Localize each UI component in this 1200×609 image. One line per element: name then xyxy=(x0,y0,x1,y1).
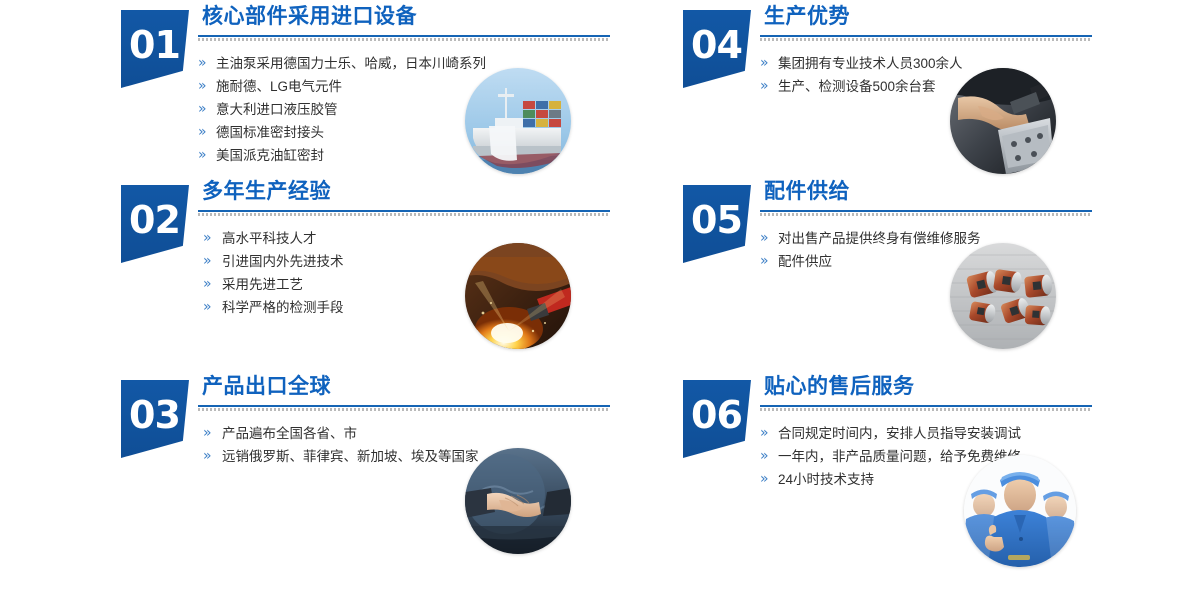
title-divider xyxy=(198,405,610,411)
list-item-label: 集团拥有专业技术人员300余人 xyxy=(778,56,963,71)
list-item-label: 美国派克油缸密封 xyxy=(216,148,324,163)
title-divider xyxy=(198,35,610,41)
list-item-label: 对出售产品提供终身有偿维修服务 xyxy=(778,231,981,246)
title-divider xyxy=(198,210,610,216)
copper-bushings-photo xyxy=(950,243,1056,349)
feature-title-06: 贴心的售后服务 xyxy=(764,370,1092,404)
divider-solid-line xyxy=(760,210,1092,212)
double-chevron-icon: » xyxy=(760,422,769,445)
double-chevron-icon: » xyxy=(198,75,207,98)
feature-title-04: 生产优势 xyxy=(764,0,1092,34)
list-item: »产品遍布全国各省、市 xyxy=(198,422,610,445)
double-chevron-icon: » xyxy=(198,121,207,144)
number-badge-05: 05 xyxy=(683,185,751,263)
badge-number-label: 02 xyxy=(121,185,180,239)
list-item-label: 生产、检测设备500余台套 xyxy=(778,79,936,94)
badge-number-label: 03 xyxy=(121,380,180,434)
feature-block-02: 02 多年生产经验 »高水平科技人才 »引进国内外先进技术 »采用先进工艺 »科… xyxy=(110,175,610,370)
cargo-ship-illustration xyxy=(465,68,571,174)
divider-solid-line xyxy=(760,405,1092,407)
divider-solid-line xyxy=(760,35,1092,37)
service-team-photo xyxy=(964,455,1076,567)
double-chevron-icon: » xyxy=(760,227,769,250)
cargo-ship-photo xyxy=(465,68,571,174)
divider-dotted-line xyxy=(198,408,610,411)
double-chevron-icon: » xyxy=(198,98,207,121)
title-divider xyxy=(760,35,1092,41)
double-chevron-icon: » xyxy=(203,227,212,250)
number-badge-06: 06 xyxy=(683,380,751,458)
feature-block-06: 06 贴心的售后服务 »合同规定时间内，安排人员指导安装调试 »一年内，非产品质… xyxy=(672,370,1092,565)
double-chevron-icon: » xyxy=(760,250,769,273)
list-item-label: 远销俄罗斯、菲律宾、新加坡、埃及等国家 xyxy=(222,449,479,464)
feature-block-01: 01 核心部件采用进口设备 »主油泵采用德国力士乐、哈威，日本川崎系列 »施耐德… xyxy=(110,0,610,195)
list-item-label: 德国标准密封接头 xyxy=(216,125,324,140)
list-item-label: 科学严格的检测手段 xyxy=(222,300,344,315)
welding-sparks-photo xyxy=(465,243,571,349)
divider-dotted-line xyxy=(198,213,610,216)
badge-number-label: 04 xyxy=(683,10,742,64)
list-item-label: 引进国内外先进技术 xyxy=(222,254,344,269)
double-chevron-icon: » xyxy=(760,52,769,75)
list-item-label: 产品遍布全国各省、市 xyxy=(222,426,357,441)
feature-title-01: 核心部件采用进口设备 xyxy=(202,0,610,34)
divider-solid-line xyxy=(198,35,610,37)
handshake-globe-photo xyxy=(465,448,571,554)
double-chevron-icon: » xyxy=(203,422,212,445)
number-badge-03: 03 xyxy=(121,380,189,458)
list-item-label: 采用先进工艺 xyxy=(222,277,303,292)
divider-dotted-line xyxy=(760,213,1092,216)
copper-bushings-illustration xyxy=(950,243,1056,349)
list-item-label: 24小时技术支持 xyxy=(778,472,874,487)
list-item-label: 主油泵采用德国力士乐、哈威，日本川崎系列 xyxy=(216,56,486,71)
divider-solid-line xyxy=(198,210,610,212)
list-item: »对出售产品提供终身有偿维修服务 xyxy=(760,227,1092,250)
double-chevron-icon: » xyxy=(760,445,769,468)
machining-illustration xyxy=(950,68,1056,174)
number-badge-04: 04 xyxy=(683,10,751,88)
list-item: »高水平科技人才 xyxy=(198,227,610,250)
list-item-label: 施耐德、LG电气元件 xyxy=(216,79,342,94)
title-divider xyxy=(760,210,1092,216)
service-team-illustration xyxy=(964,455,1076,567)
number-badge-01: 01 xyxy=(121,10,189,88)
feature-block-04: 04 生产优势 »集团拥有专业技术人员300余人 »生产、检测设备500余台套 xyxy=(672,0,1092,195)
divider-dotted-line xyxy=(198,38,610,41)
double-chevron-icon: » xyxy=(198,52,207,75)
double-chevron-icon: » xyxy=(198,144,207,167)
list-item-label: 配件供应 xyxy=(778,254,832,269)
divider-dotted-line xyxy=(760,408,1092,411)
handshake-illustration xyxy=(465,448,571,554)
badge-number-label: 05 xyxy=(683,185,742,239)
welding-sparks-illustration xyxy=(465,243,571,349)
badge-number-label: 06 xyxy=(683,380,742,434)
double-chevron-icon: » xyxy=(203,250,212,273)
feature-content-05: 配件供给 »对出售产品提供终身有偿维修服务 »配件供应 xyxy=(760,175,1092,273)
machining-workshop-photo xyxy=(950,68,1056,174)
feature-title-03: 产品出口全球 xyxy=(202,370,610,404)
list-item-label: 高水平科技人才 xyxy=(222,231,317,246)
feature-content-03: 产品出口全球 »产品遍布全国各省、市 »远销俄罗斯、菲律宾、新加坡、埃及等国家 xyxy=(198,370,610,468)
title-divider xyxy=(760,405,1092,411)
list-item: »主油泵采用德国力士乐、哈威，日本川崎系列 xyxy=(198,52,610,75)
badge-number-label: 01 xyxy=(121,10,180,64)
divider-solid-line xyxy=(198,405,610,407)
feature-block-03: 03 产品出口全球 »产品遍布全国各省、市 »远销俄罗斯、菲律宾、新加坡、埃及等… xyxy=(110,370,610,565)
double-chevron-icon: » xyxy=(203,296,212,319)
feature-title-05: 配件供给 xyxy=(764,175,1092,209)
double-chevron-icon: » xyxy=(760,75,769,98)
divider-dotted-line xyxy=(760,38,1092,41)
feature-block-05: 05 配件供给 »对出售产品提供终身有偿维修服务 »配件供应 xyxy=(672,175,1092,370)
advantages-board: 01 核心部件采用进口设备 »主油泵采用德国力士乐、哈威，日本川崎系列 »施耐德… xyxy=(0,0,1200,609)
list-item: »集团拥有专业技术人员300余人 xyxy=(760,52,1092,75)
double-chevron-icon: » xyxy=(203,445,212,468)
feature-content-04: 生产优势 »集团拥有专业技术人员300余人 »生产、检测设备500余台套 xyxy=(760,0,1092,98)
list-item-label: 意大利进口液压胶管 xyxy=(216,102,338,117)
feature-title-02: 多年生产经验 xyxy=(202,175,610,209)
list-item: »合同规定时间内，安排人员指导安装调试 xyxy=(760,422,1092,445)
double-chevron-icon: » xyxy=(203,273,212,296)
double-chevron-icon: » xyxy=(760,468,769,491)
number-badge-02: 02 xyxy=(121,185,189,263)
list-item-label: 合同规定时间内，安排人员指导安装调试 xyxy=(778,426,1021,441)
list-item-label: 一年内，非产品质量问题，给予免费维修 xyxy=(778,449,1021,464)
